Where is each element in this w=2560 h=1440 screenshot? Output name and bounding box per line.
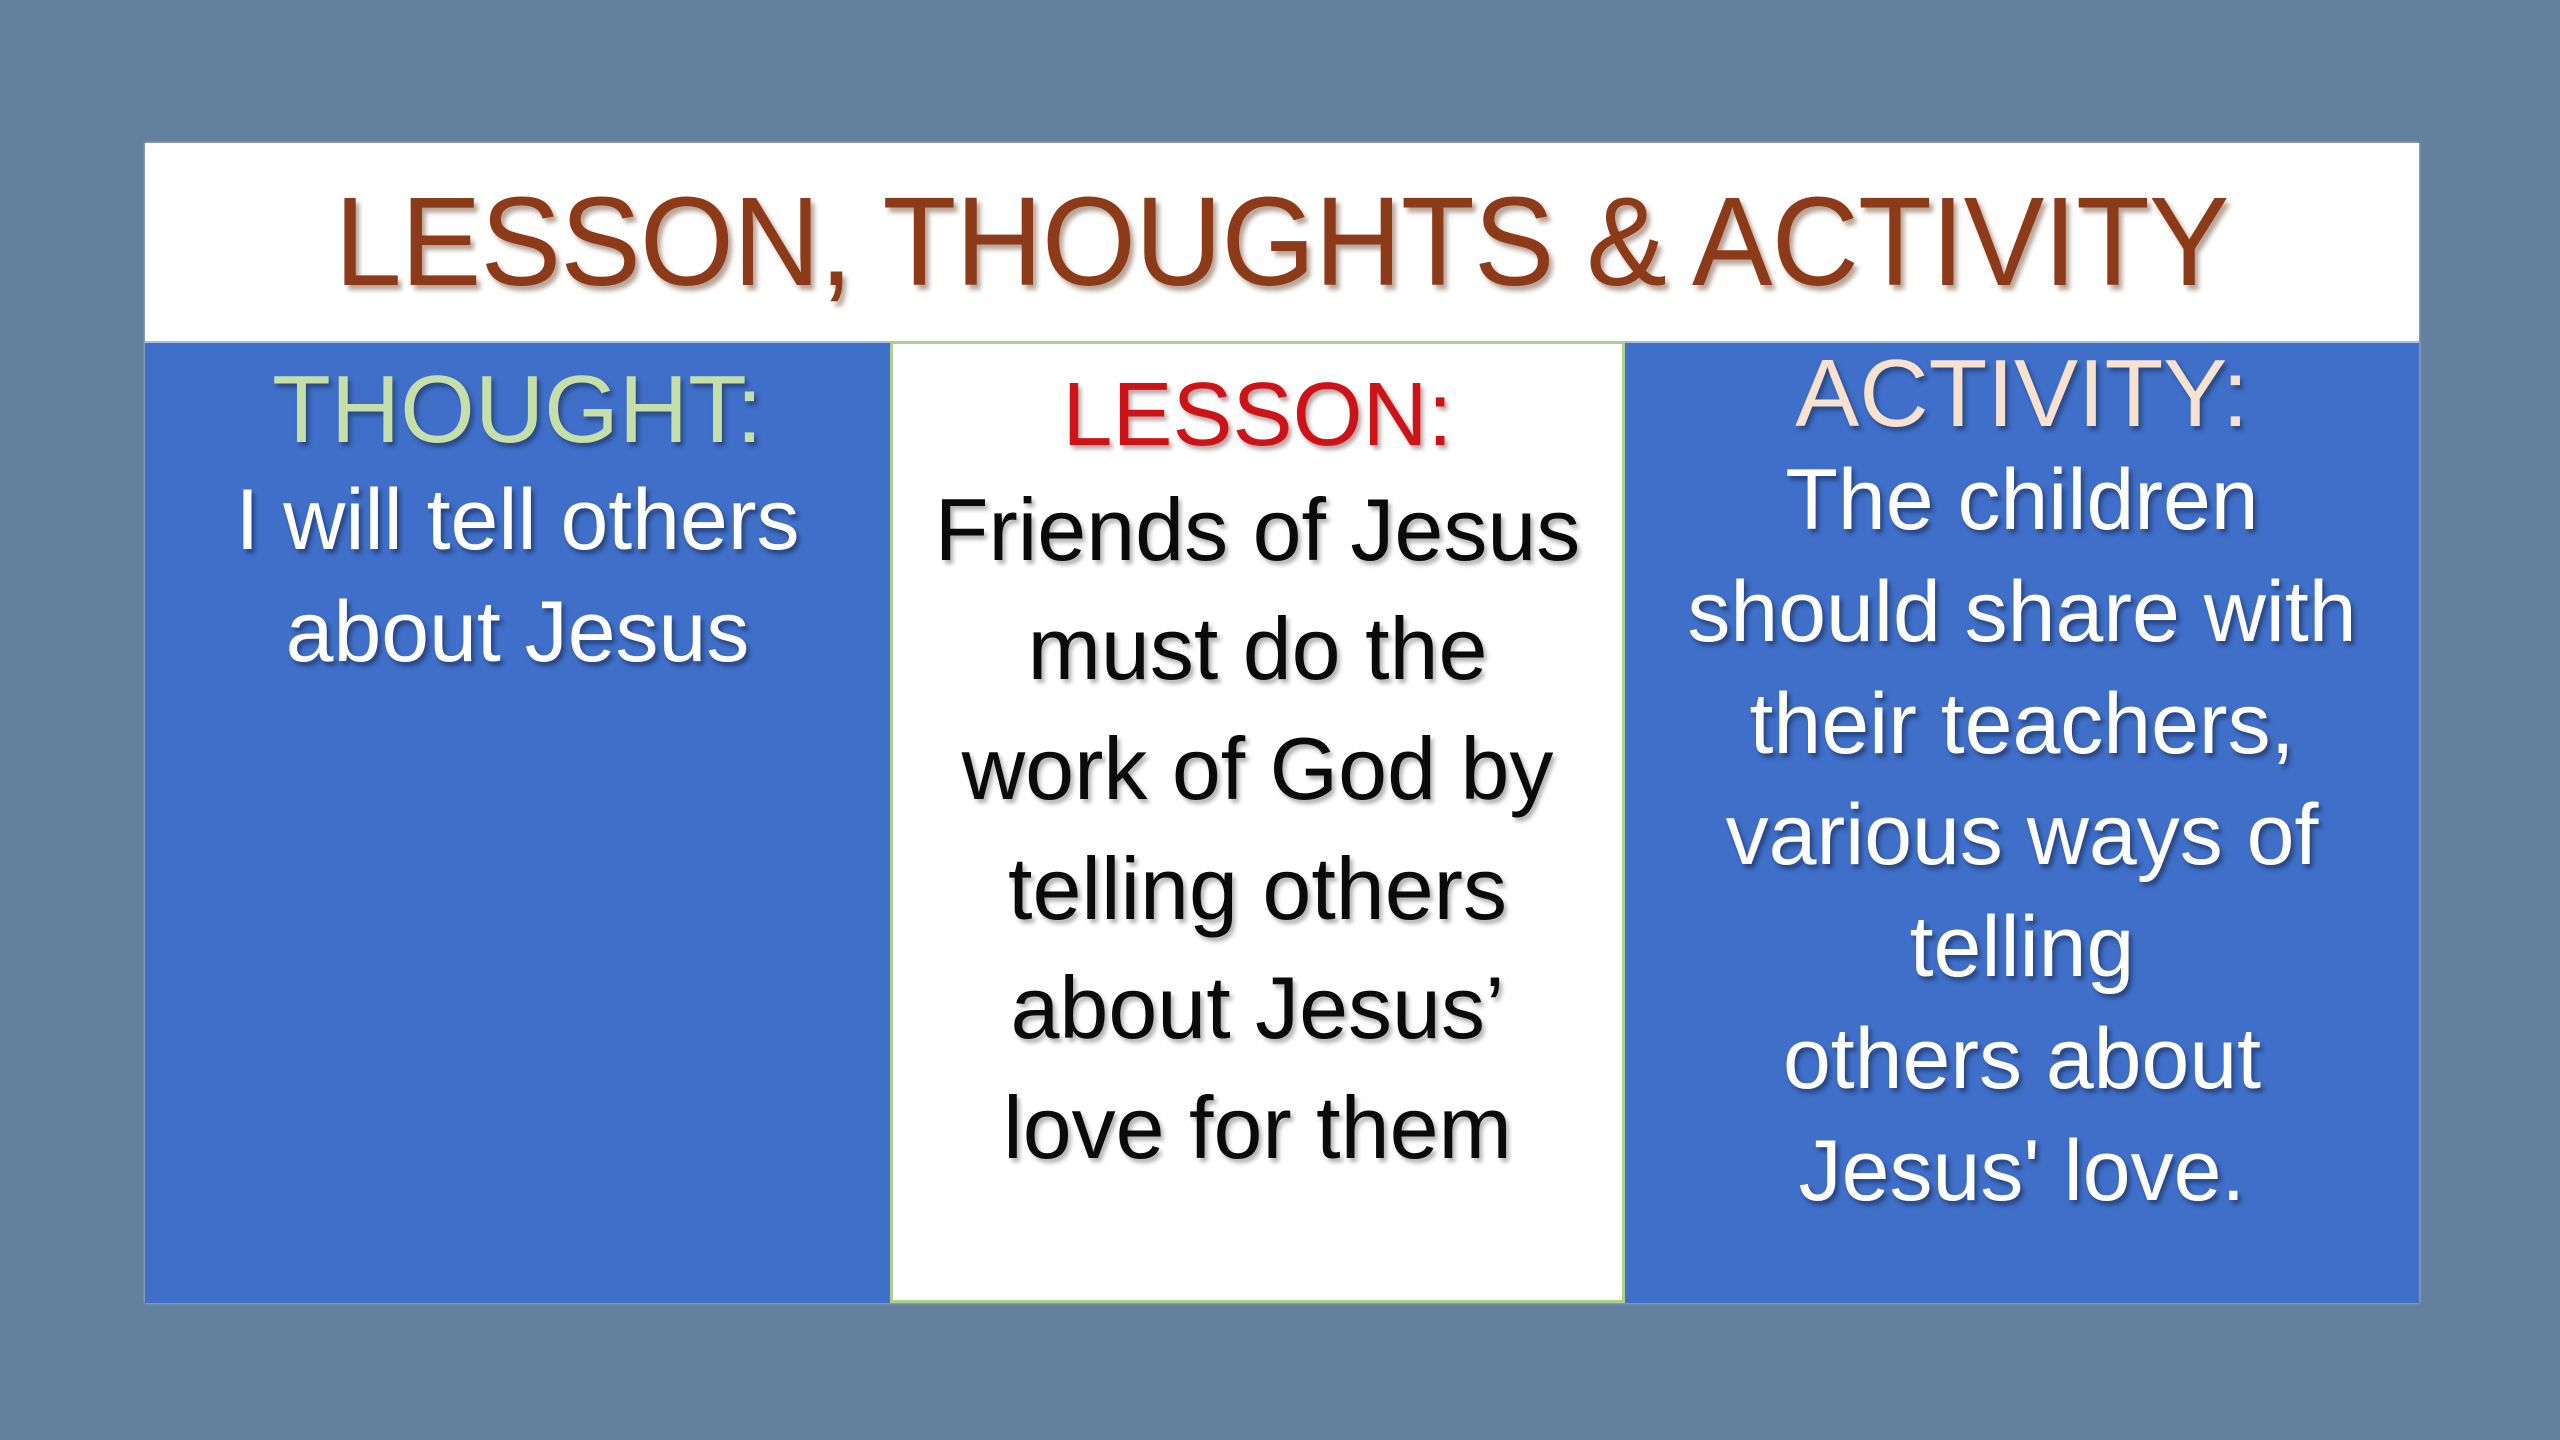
column-thought: THOUGHT: I will tell others about Jesus — [145, 341, 890, 1303]
lesson-body-line: telling others — [915, 829, 1600, 949]
activity-body-text: The children should share with their tea… — [1639, 445, 2405, 1228]
column-activity: ACTIVITY: The children should share with… — [1625, 341, 2419, 1303]
thought-body-line: I will tell others — [163, 465, 872, 577]
activity-body-line: their teachers, — [1639, 669, 2405, 781]
lesson-body-line: work of God by — [915, 709, 1600, 829]
activity-body-line: others about — [1639, 1004, 2405, 1116]
activity-body-line: various ways of — [1639, 780, 2405, 892]
activity-body-line: should share with — [1639, 557, 2405, 669]
slide-card: LESSON, THOUGHTS & ACTIVITY THOUGHT: I w… — [145, 143, 2419, 1303]
page-title: LESSON, THOUGHTS & ACTIVITY — [335, 179, 2229, 305]
lesson-body-line: must do the — [915, 589, 1600, 709]
lesson-body-line: love for them — [915, 1068, 1600, 1188]
thought-heading: THOUGHT: — [272, 361, 763, 459]
columns-row: THOUGHT: I will tell others about Jesus … — [145, 341, 2419, 1303]
thought-body-line: about Jesus — [163, 577, 872, 689]
activity-body-line: Jesus' love. — [1639, 1116, 2405, 1228]
activity-body-line: telling — [1639, 892, 2405, 1004]
column-lesson: LESSON: Friends of Jesus must do the wor… — [890, 341, 1625, 1303]
title-bar: LESSON, THOUGHTS & ACTIVITY — [145, 143, 2419, 341]
thought-body-text: I will tell others about Jesus — [163, 465, 872, 689]
lesson-body-text: Friends of Jesus must do the work of God… — [915, 470, 1600, 1188]
lesson-heading: LESSON: — [1062, 370, 1452, 462]
lesson-body-line: about Jesus’ — [915, 948, 1600, 1068]
activity-body-line: The children — [1639, 445, 2405, 557]
lesson-body-line: Friends of Jesus — [915, 470, 1600, 590]
activity-heading: ACTIVITY: — [1795, 345, 2248, 443]
